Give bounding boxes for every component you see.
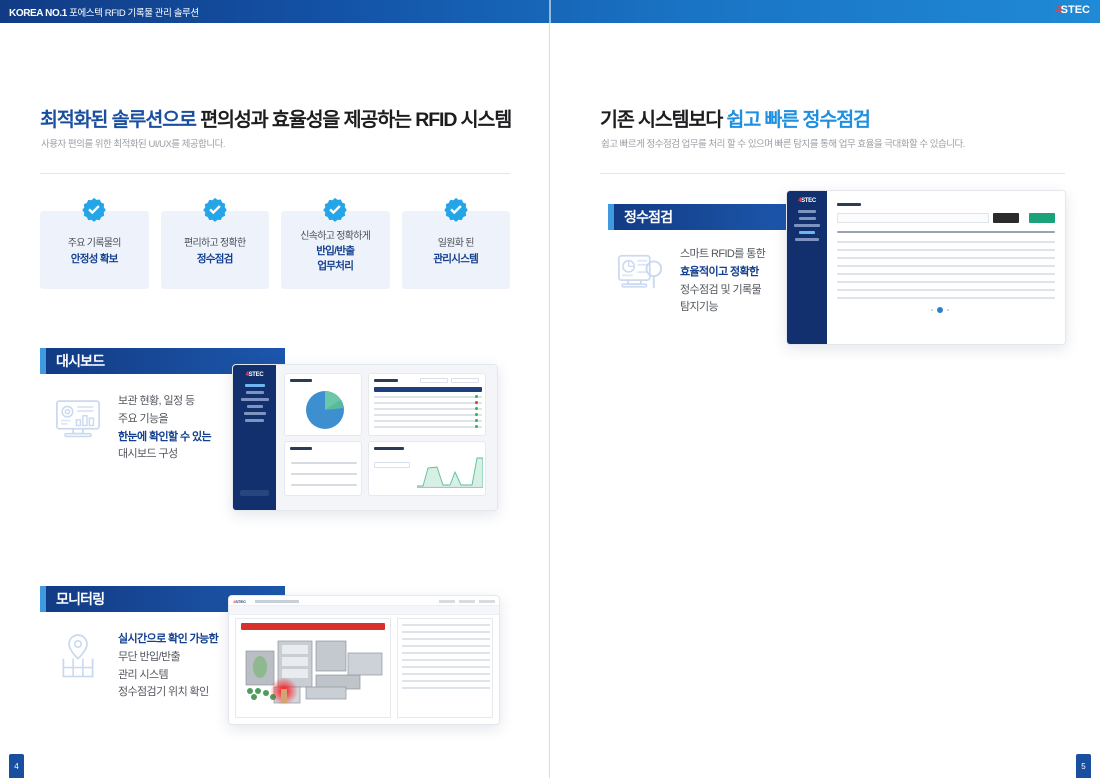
mock-pie-card xyxy=(284,373,362,436)
mock-table-row xyxy=(402,631,490,633)
feature-card-line2: 관리시스템 xyxy=(433,252,478,267)
desc-line: 주요 기능을 xyxy=(118,411,211,429)
mock-status-dot xyxy=(475,425,478,428)
mock-content xyxy=(827,191,1065,344)
feature-card-line2: 안정성 확보 xyxy=(71,252,118,267)
mock-table-row xyxy=(402,659,490,661)
mock-content xyxy=(276,365,497,510)
feature-card: 주요 기록물의 안정성 확보 xyxy=(40,211,149,289)
mock-sidebar: 4STEC xyxy=(233,365,276,510)
mock-stats-card xyxy=(284,441,362,496)
mock-card-title xyxy=(290,447,312,450)
mock-table-row xyxy=(374,420,482,422)
feature-card-line1: 신속하고 정확하게 xyxy=(300,230,370,245)
mock-sidebar-nav xyxy=(233,384,276,422)
dashboard-description: 보관 현황, 일정 등 주요 기능을 한눈에 확인할 수 있는 대시보드 구성 xyxy=(52,393,211,464)
mock-floorplan-card xyxy=(235,618,391,718)
inspection-description-text: 스마트 RFID를 통한 효율적이고 정확한 정수점검 및 기록물 탐지기능 xyxy=(680,246,765,317)
mock-select-filter[interactable] xyxy=(420,378,448,383)
sidebar-item-dashboard[interactable] xyxy=(245,384,265,387)
mock-status-dot xyxy=(475,401,478,404)
mock-table-row xyxy=(837,257,1055,259)
mock-table-card xyxy=(368,373,486,436)
mock-table-header xyxy=(374,387,482,392)
mock-table-row xyxy=(402,645,490,647)
check-badge-icon xyxy=(202,197,228,223)
left-title-highlight: 최적화된 솔루션으로 xyxy=(40,109,196,131)
mock-table-row xyxy=(374,408,482,410)
header-center-divider xyxy=(549,0,551,23)
mock-divider xyxy=(291,473,357,475)
sidebar-item-documents[interactable] xyxy=(799,217,816,220)
monitoring-description-text: 실시간으로 확인 가능한 무단 반입/반출 관리 시스템 정수점검기 위치 확인 xyxy=(118,631,218,702)
check-badge-icon xyxy=(322,197,348,223)
right-header-divider xyxy=(600,173,1065,174)
mock-table-row xyxy=(402,624,490,626)
sidebar-item-inout[interactable] xyxy=(794,224,820,227)
two-page-spread: 최적화된 솔루션으로 편의성과 효율성을 제공하는 RFID 시스템 사용자 편… xyxy=(0,23,1100,778)
mock-search-input[interactable] xyxy=(837,213,989,223)
mock-topnav-user xyxy=(479,600,495,603)
feature-card: 신속하고 정확하게 반입/반출 업무처리 xyxy=(281,211,390,289)
mock-page-title xyxy=(837,203,861,206)
mock-topnav-menu[interactable] xyxy=(459,600,475,603)
header-brand-title: 포에스텍 RFID 기록물 관리 솔루션 xyxy=(69,8,199,19)
mock-topnav: 4STEC xyxy=(229,596,499,606)
feature-card-line2: 정수점검 xyxy=(197,252,233,267)
sidebar-item-dashboard[interactable] xyxy=(798,210,816,213)
right-page: 기존 시스템보다 쉽고 빠른 정수점검 쉽고 빠르게 정수점검 업무를 처리 할… xyxy=(550,23,1100,778)
sidebar-item-history[interactable] xyxy=(245,419,264,422)
mock-select-filter[interactable] xyxy=(451,378,479,383)
right-page-subtitle: 쉽고 빠르게 정수점검 업무를 처리 할 수 있으며 빠른 탐지를 통해 업무 … xyxy=(601,136,965,150)
mock-table-row xyxy=(374,426,482,428)
left-page-subtitle: 사용자 편의를 위한 최적화된 UI/UX를 제공합니다. xyxy=(41,136,225,150)
section-bar-title: 정수점검 xyxy=(614,204,793,230)
mock-table-row xyxy=(837,297,1055,299)
mock-table-row xyxy=(837,265,1055,267)
feature-card: 일원화 된 관리시스템 xyxy=(402,211,511,289)
check-badge-icon xyxy=(443,197,469,223)
logo-wordmark: STEC xyxy=(1061,5,1090,16)
monitoring-description: 실시간으로 확인 가능한 무단 반입/반출 관리 시스템 정수점검기 위치 확인 xyxy=(52,631,218,702)
left-header-divider xyxy=(40,173,510,174)
page-number-right: 5 xyxy=(1076,754,1091,778)
feature-card-line3: 업무처리 xyxy=(317,259,353,274)
mock-card-title xyxy=(374,447,404,450)
inspection-description: 스마트 RFID를 통한 효율적이고 정확한 정수점검 및 기록물 탐지기능 xyxy=(614,246,765,317)
check-badge-icon xyxy=(81,197,107,223)
desc-line: 정수점검 및 기록물 xyxy=(680,282,765,300)
mock-pagination[interactable] xyxy=(931,307,949,313)
mock-areachart-card xyxy=(368,441,486,496)
warehouse-floorplan-icon xyxy=(240,635,388,711)
mock-sidebar-nav xyxy=(787,210,827,241)
pagination-next-icon[interactable] xyxy=(947,309,949,311)
mock-topnav-menu[interactable] xyxy=(439,600,455,603)
mock-sidebar: 4STEC xyxy=(787,191,827,344)
feature-card-row: 주요 기록물의 안정성 확보 편리하고 정확한 정수점검 xyxy=(40,211,510,289)
mock-table-row xyxy=(402,652,490,654)
mock-table-row xyxy=(374,402,482,404)
mock-search-button[interactable] xyxy=(993,213,1019,223)
right-title-highlight: 쉽고 빠른 정수점검 xyxy=(727,109,870,131)
desc-line-emphasis: 실시간으로 확인 가능한 xyxy=(118,631,218,649)
dashboard-screenshot[interactable]: 4STEC xyxy=(232,364,498,511)
desc-line-emphasis: 효율적이고 정확한 xyxy=(680,264,765,282)
company-logo: 4 STEC xyxy=(1056,5,1090,16)
desc-line: 보관 현황, 일정 등 xyxy=(118,393,211,411)
desc-line: 정수점검기 위치 확인 xyxy=(118,684,218,702)
sidebar-item-users[interactable] xyxy=(244,412,266,415)
sidebar-item-inspection[interactable] xyxy=(799,231,815,234)
mock-table-row xyxy=(837,249,1055,251)
mock-table-row xyxy=(374,414,482,416)
section-bar-inspection: 정수점검 xyxy=(608,204,793,230)
mock-divider xyxy=(291,462,357,464)
desc-line-emphasis: 한눈에 확인할 수 있는 xyxy=(118,429,211,447)
right-title-rest: 기존 시스템보다 xyxy=(600,109,727,131)
desc-line: 무단 반입/반출 xyxy=(118,649,218,667)
mock-divider xyxy=(291,484,357,486)
mock-table-row xyxy=(402,680,490,682)
mock-card-title xyxy=(374,379,398,382)
pagination-prev-icon[interactable] xyxy=(931,309,933,311)
mock-table-header-rule xyxy=(837,231,1055,233)
pie-chart-icon xyxy=(303,388,347,432)
presentation-spread: KOREA NO.1 포에스텍 RFID 기록물 관리 솔루션 4 STEC 최… xyxy=(0,0,1100,778)
right-page-title: 기존 시스템보다 쉽고 빠른 정수점검 xyxy=(600,103,870,132)
mock-table-row xyxy=(402,673,490,675)
feature-card-line1: 일원화 된 xyxy=(438,237,474,252)
page-number-left: 4 xyxy=(9,754,24,778)
mock-log-table xyxy=(397,618,493,718)
desc-line: 스마트 RFID를 통한 xyxy=(680,246,765,264)
header-brand-prefix: KOREA NO.1 xyxy=(9,8,67,19)
mock-table-row xyxy=(402,638,490,640)
top-header-bar: KOREA NO.1 포에스텍 RFID 기록물 관리 솔루션 4 STEC xyxy=(0,0,1100,23)
monitoring-screenshot[interactable]: 4STEC xyxy=(228,595,500,725)
mock-table-row xyxy=(402,687,490,689)
feature-card: 편리하고 정확한 정수점검 xyxy=(161,211,270,289)
left-title-rest: 편의성과 효율성을 제공하는 RFID 시스템 xyxy=(196,109,511,131)
sidebar-item-inout[interactable] xyxy=(241,398,269,401)
sidebar-item-inspection[interactable] xyxy=(247,405,263,408)
sidebar-item-history[interactable] xyxy=(795,238,819,241)
mock-sidebar-logo: 4STEC xyxy=(233,365,276,384)
mock-select-period[interactable] xyxy=(374,462,410,468)
sidebar-footer-button[interactable] xyxy=(240,490,269,496)
feature-card-line2: 반입/반출 xyxy=(316,244,354,259)
desc-line: 탐지기능 xyxy=(680,299,765,317)
mock-table-row xyxy=(402,666,490,668)
feature-card-line1: 편리하고 정확한 xyxy=(184,237,246,252)
mock-status-dot xyxy=(475,413,478,416)
desc-line: 관리 시스템 xyxy=(118,667,218,685)
mock-status-dot xyxy=(475,419,478,422)
mock-table-row xyxy=(837,289,1055,291)
mock-table-row xyxy=(837,273,1055,275)
left-page-title: 최적화된 솔루션으로 편의성과 효율성을 제공하는 RFID 시스템 xyxy=(40,103,511,132)
dashboard-description-text: 보관 현황, 일정 등 주요 기능을 한눈에 확인할 수 있는 대시보드 구성 xyxy=(118,393,211,464)
mock-card-title xyxy=(290,379,312,382)
mock-status-dot xyxy=(475,395,478,398)
desc-line: 대시보드 구성 xyxy=(118,446,211,464)
monitor-search-icon xyxy=(614,246,666,298)
mock-topnav-logo: 4STEC xyxy=(233,599,246,604)
feature-card-line1: 주요 기록물의 xyxy=(68,237,121,252)
mock-sidebar-logo: 4STEC xyxy=(787,191,827,210)
area-chart-icon xyxy=(417,454,483,488)
left-page: 최적화된 솔루션으로 편의성과 효율성을 제공하는 RFID 시스템 사용자 편… xyxy=(0,23,550,778)
mock-export-button[interactable] xyxy=(1029,213,1055,223)
monitor-chart-icon xyxy=(52,393,104,445)
pagination-current-page[interactable] xyxy=(937,307,943,313)
mock-alert-banner xyxy=(241,623,385,630)
mock-breadcrumb xyxy=(229,606,499,615)
inspection-screenshot[interactable]: 4STEC xyxy=(786,190,1066,345)
mock-table-row xyxy=(374,396,482,398)
sidebar-item-documents[interactable] xyxy=(246,391,264,394)
mock-table-row xyxy=(837,241,1055,243)
header-brand-text: KOREA NO.1 포에스텍 RFID 기록물 관리 솔루션 xyxy=(0,5,199,19)
location-pin-map-icon xyxy=(52,631,104,683)
mock-topnav-title xyxy=(255,600,299,603)
mock-table-row xyxy=(837,281,1055,283)
mock-status-dot xyxy=(475,407,478,410)
